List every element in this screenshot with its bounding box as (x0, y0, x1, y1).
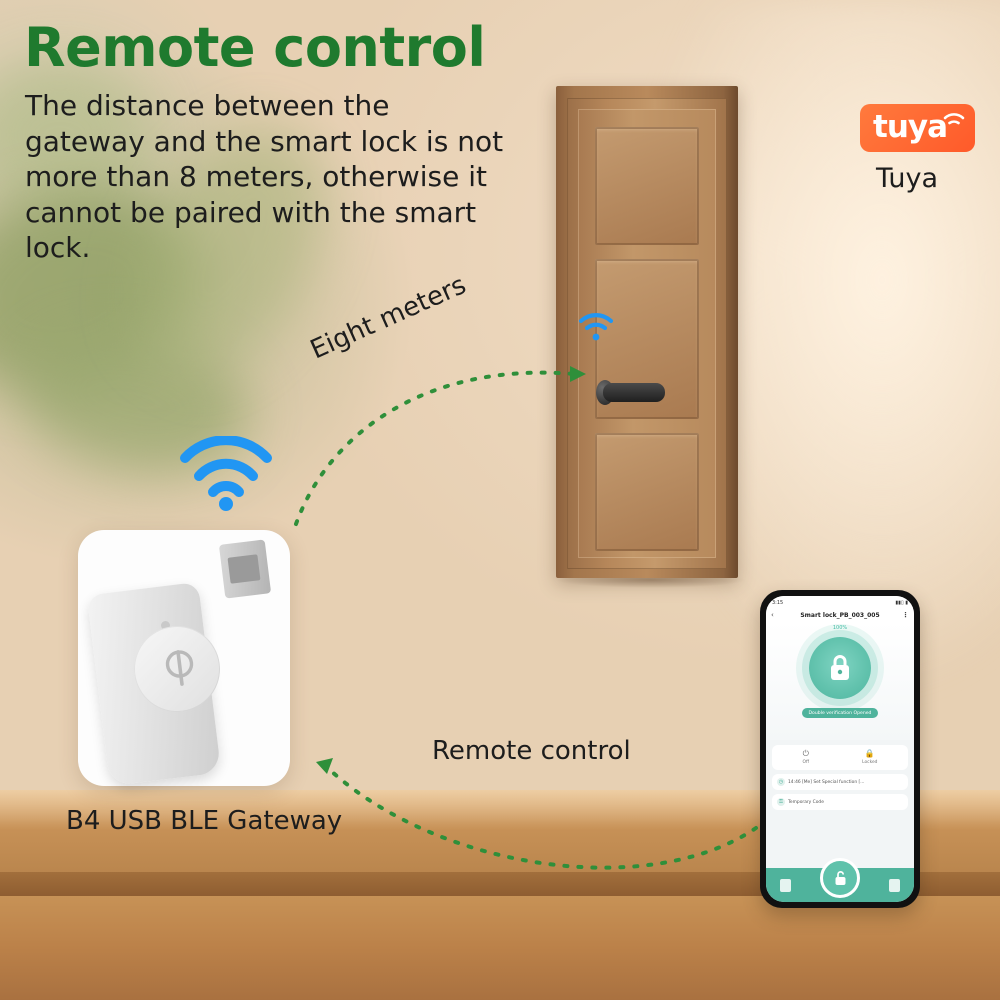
power-icon: ⏻ (803, 750, 809, 758)
wifi-icon (180, 436, 272, 512)
list-item-label: Temporary Code (788, 800, 824, 805)
quick-action-power[interactable]: ⏻ Off (803, 750, 809, 765)
wifi-icon (578, 312, 614, 342)
page-title: Remote control (24, 16, 485, 79)
lock-icon[interactable] (889, 879, 900, 892)
status-icons: ▮▮▯ ▮ (895, 600, 908, 606)
tuya-logo-badge: tuya (860, 104, 975, 152)
usb-connector-inner (228, 554, 261, 583)
phone-title: Smart lock_PB_003_005 (800, 612, 879, 619)
door-panel-bottom (595, 433, 699, 551)
unlock-fab-icon[interactable] (820, 858, 860, 898)
status-time: 3:15 (772, 600, 783, 606)
tuya-label: Tuya (876, 163, 938, 194)
keypad-icon[interactable] (780, 879, 791, 892)
quick-action-lock[interactable]: 🔒 Locked (862, 750, 877, 765)
list-item-label: 14:46 [Me] Set Special function [... (788, 780, 864, 785)
door-panel-top (595, 127, 699, 245)
remote-control-label: Remote control (432, 736, 631, 766)
phone-hero: 100% Double verification Opened (766, 622, 914, 740)
phone-quick-actions: ⏻ Off 🔒 Locked (772, 745, 908, 770)
wifi-icon (943, 112, 965, 130)
chevron-left-icon[interactable]: ‹ (771, 611, 774, 619)
list-item[interactable]: ⚿ Temporary Code (772, 794, 908, 810)
page-description: The distance between the gateway and the… (25, 88, 505, 266)
phone-navbar: ‹ Smart lock_PB_003_005 ⋮ (766, 608, 914, 622)
list-item[interactable]: ◷ 14:46 [Me] Set Special function [... (772, 774, 908, 790)
promo-infographic: B4 USB BLE Gateway 3:15 ▮▮▯ ▮ ‹ Smart lo… (0, 0, 1000, 1000)
smart-lock-icon (603, 383, 665, 402)
quick-action-label: Locked (862, 760, 877, 765)
padlock-icon[interactable] (809, 637, 871, 699)
lock-icon: 🔒 (862, 750, 877, 758)
phone-status-bar: 3:15 ▮▮▯ ▮ (766, 596, 914, 608)
more-vertical-icon[interactable]: ⋮ (902, 611, 909, 619)
key-icon: ⚿ (777, 798, 785, 806)
padlock-logo-icon (162, 646, 199, 690)
gateway-label: B4 USB BLE Gateway (66, 806, 342, 836)
status-badge: Double verification Opened (802, 708, 879, 718)
table-front (0, 896, 1000, 1000)
smartphone-screen: 3:15 ▮▮▯ ▮ ‹ Smart lock_PB_003_005 ⋮ 100… (766, 596, 914, 902)
quick-action-label: Off (803, 760, 809, 765)
battery-percent: 100% (833, 625, 847, 631)
tuya-wordmark: tuya (873, 109, 947, 145)
clock-icon: ◷ (777, 778, 785, 786)
phone-bottom-bar (766, 868, 914, 902)
